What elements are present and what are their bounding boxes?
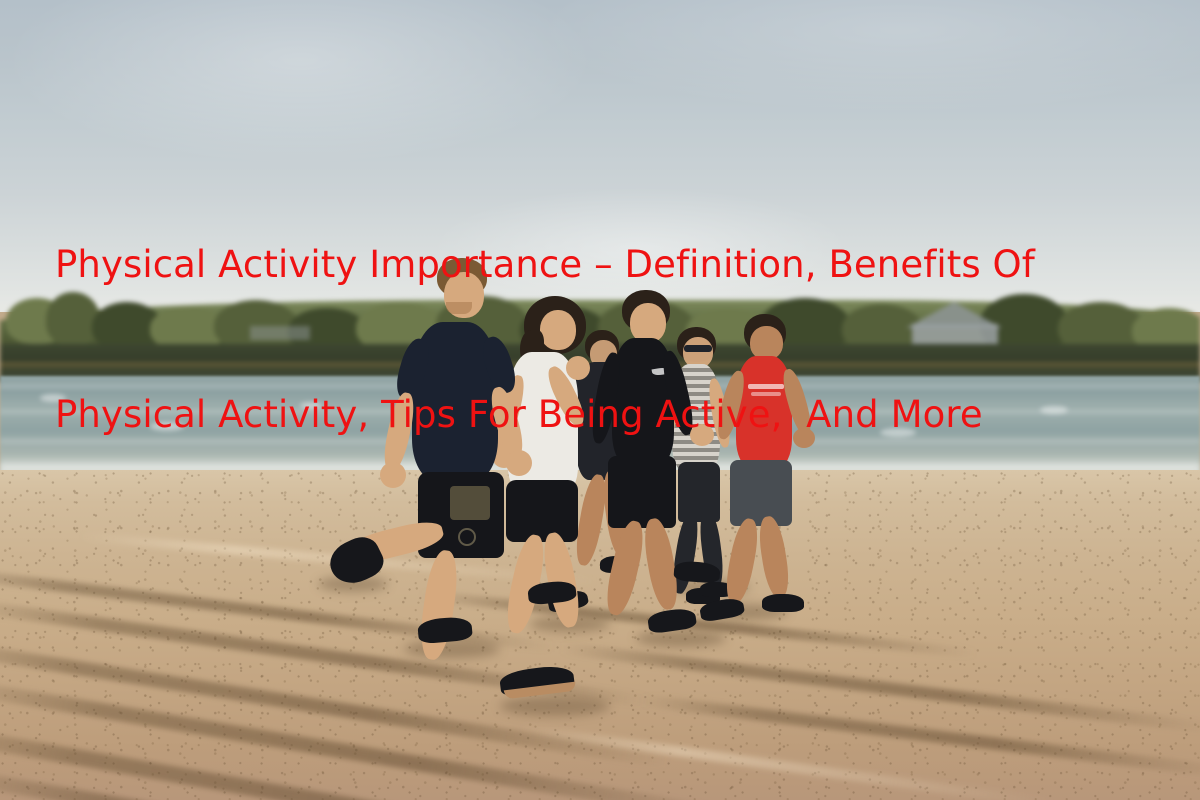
runner-shoe xyxy=(762,594,804,612)
page-title-line-1: Physical Activity Importance – Definitio… xyxy=(55,240,1175,290)
runner-shadow xyxy=(636,630,726,647)
page-title-line-2: Physical Activity, Tips For Being Active… xyxy=(55,390,1175,440)
article-hero-banner: Physical Activity Importance – Definitio… xyxy=(0,0,1200,800)
page-title: Physical Activity Importance – Definitio… xyxy=(55,140,1175,540)
runner-shadow xyxy=(404,640,500,658)
runner-shadow xyxy=(500,696,610,716)
